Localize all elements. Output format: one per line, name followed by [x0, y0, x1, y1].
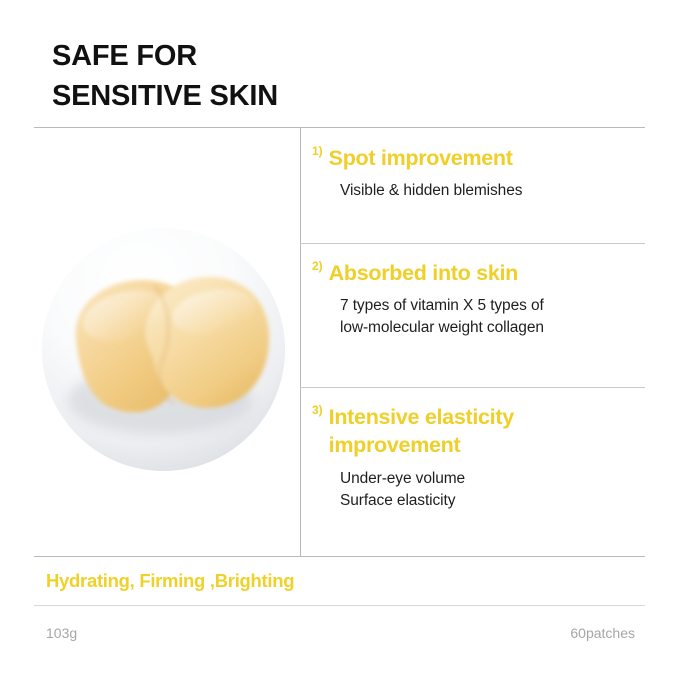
divider-above-benefits — [34, 556, 645, 557]
divider-below-benefits — [34, 605, 645, 606]
feature-separator-1 — [300, 243, 645, 244]
feature-description-line: Visible & hidden blemishes — [340, 180, 645, 202]
feature-description-line: low-molecular weight collagen — [340, 317, 645, 339]
title-line-2: SENSITIVE SKIN — [52, 76, 612, 116]
title-line-1: SAFE FOR — [52, 36, 612, 76]
feature-description: 7 types of vitamin X 5 types of low-mole… — [340, 295, 645, 339]
eye-patches-illustration — [42, 228, 285, 471]
feature-title: Spot improvement — [329, 146, 513, 170]
feature-description-line: Under-eye volume — [340, 468, 645, 490]
feature-title: Intensive elasticity improvement — [329, 405, 514, 457]
benefits-text: Hydrating, Firming ,Brighting — [46, 570, 294, 592]
net-weight: 103g — [46, 625, 77, 641]
feature-item-absorbed-into-skin: 2)Absorbed into skin 7 types of vitamin … — [300, 259, 645, 339]
feature-separator-2 — [300, 387, 645, 388]
feature-description: Visible & hidden blemishes — [340, 180, 645, 202]
feature-list: 1)Spot improvement Visible & hidden blem… — [300, 128, 645, 556]
feature-description-line: 7 types of vitamin X 5 types of — [340, 295, 645, 317]
feature-marker: 3) — [312, 403, 323, 417]
product-infographic: SAFE FOR SENSITIVE SKIN — [0, 0, 679, 679]
feature-description: Under-eye volume Surface elasticity — [340, 468, 645, 512]
feature-title: Absorbed into skin — [329, 261, 518, 285]
feature-item-spot-improvement: 1)Spot improvement Visible & hidden blem… — [300, 144, 645, 202]
page-title: SAFE FOR SENSITIVE SKIN — [52, 36, 612, 116]
patch-count: 60patches — [570, 625, 635, 641]
feature-heading: 3)Intensive elasticity improvement — [312, 403, 645, 460]
feature-heading: 1)Spot improvement — [312, 144, 645, 172]
feature-heading: 2)Absorbed into skin — [312, 259, 645, 287]
feature-description-line: Surface elasticity — [340, 490, 645, 512]
feature-marker: 1) — [312, 144, 323, 158]
feature-marker: 2) — [312, 259, 323, 273]
product-image — [42, 228, 285, 471]
feature-item-intensive-elasticity-improvement: 3)Intensive elasticity improvement Under… — [300, 403, 645, 512]
